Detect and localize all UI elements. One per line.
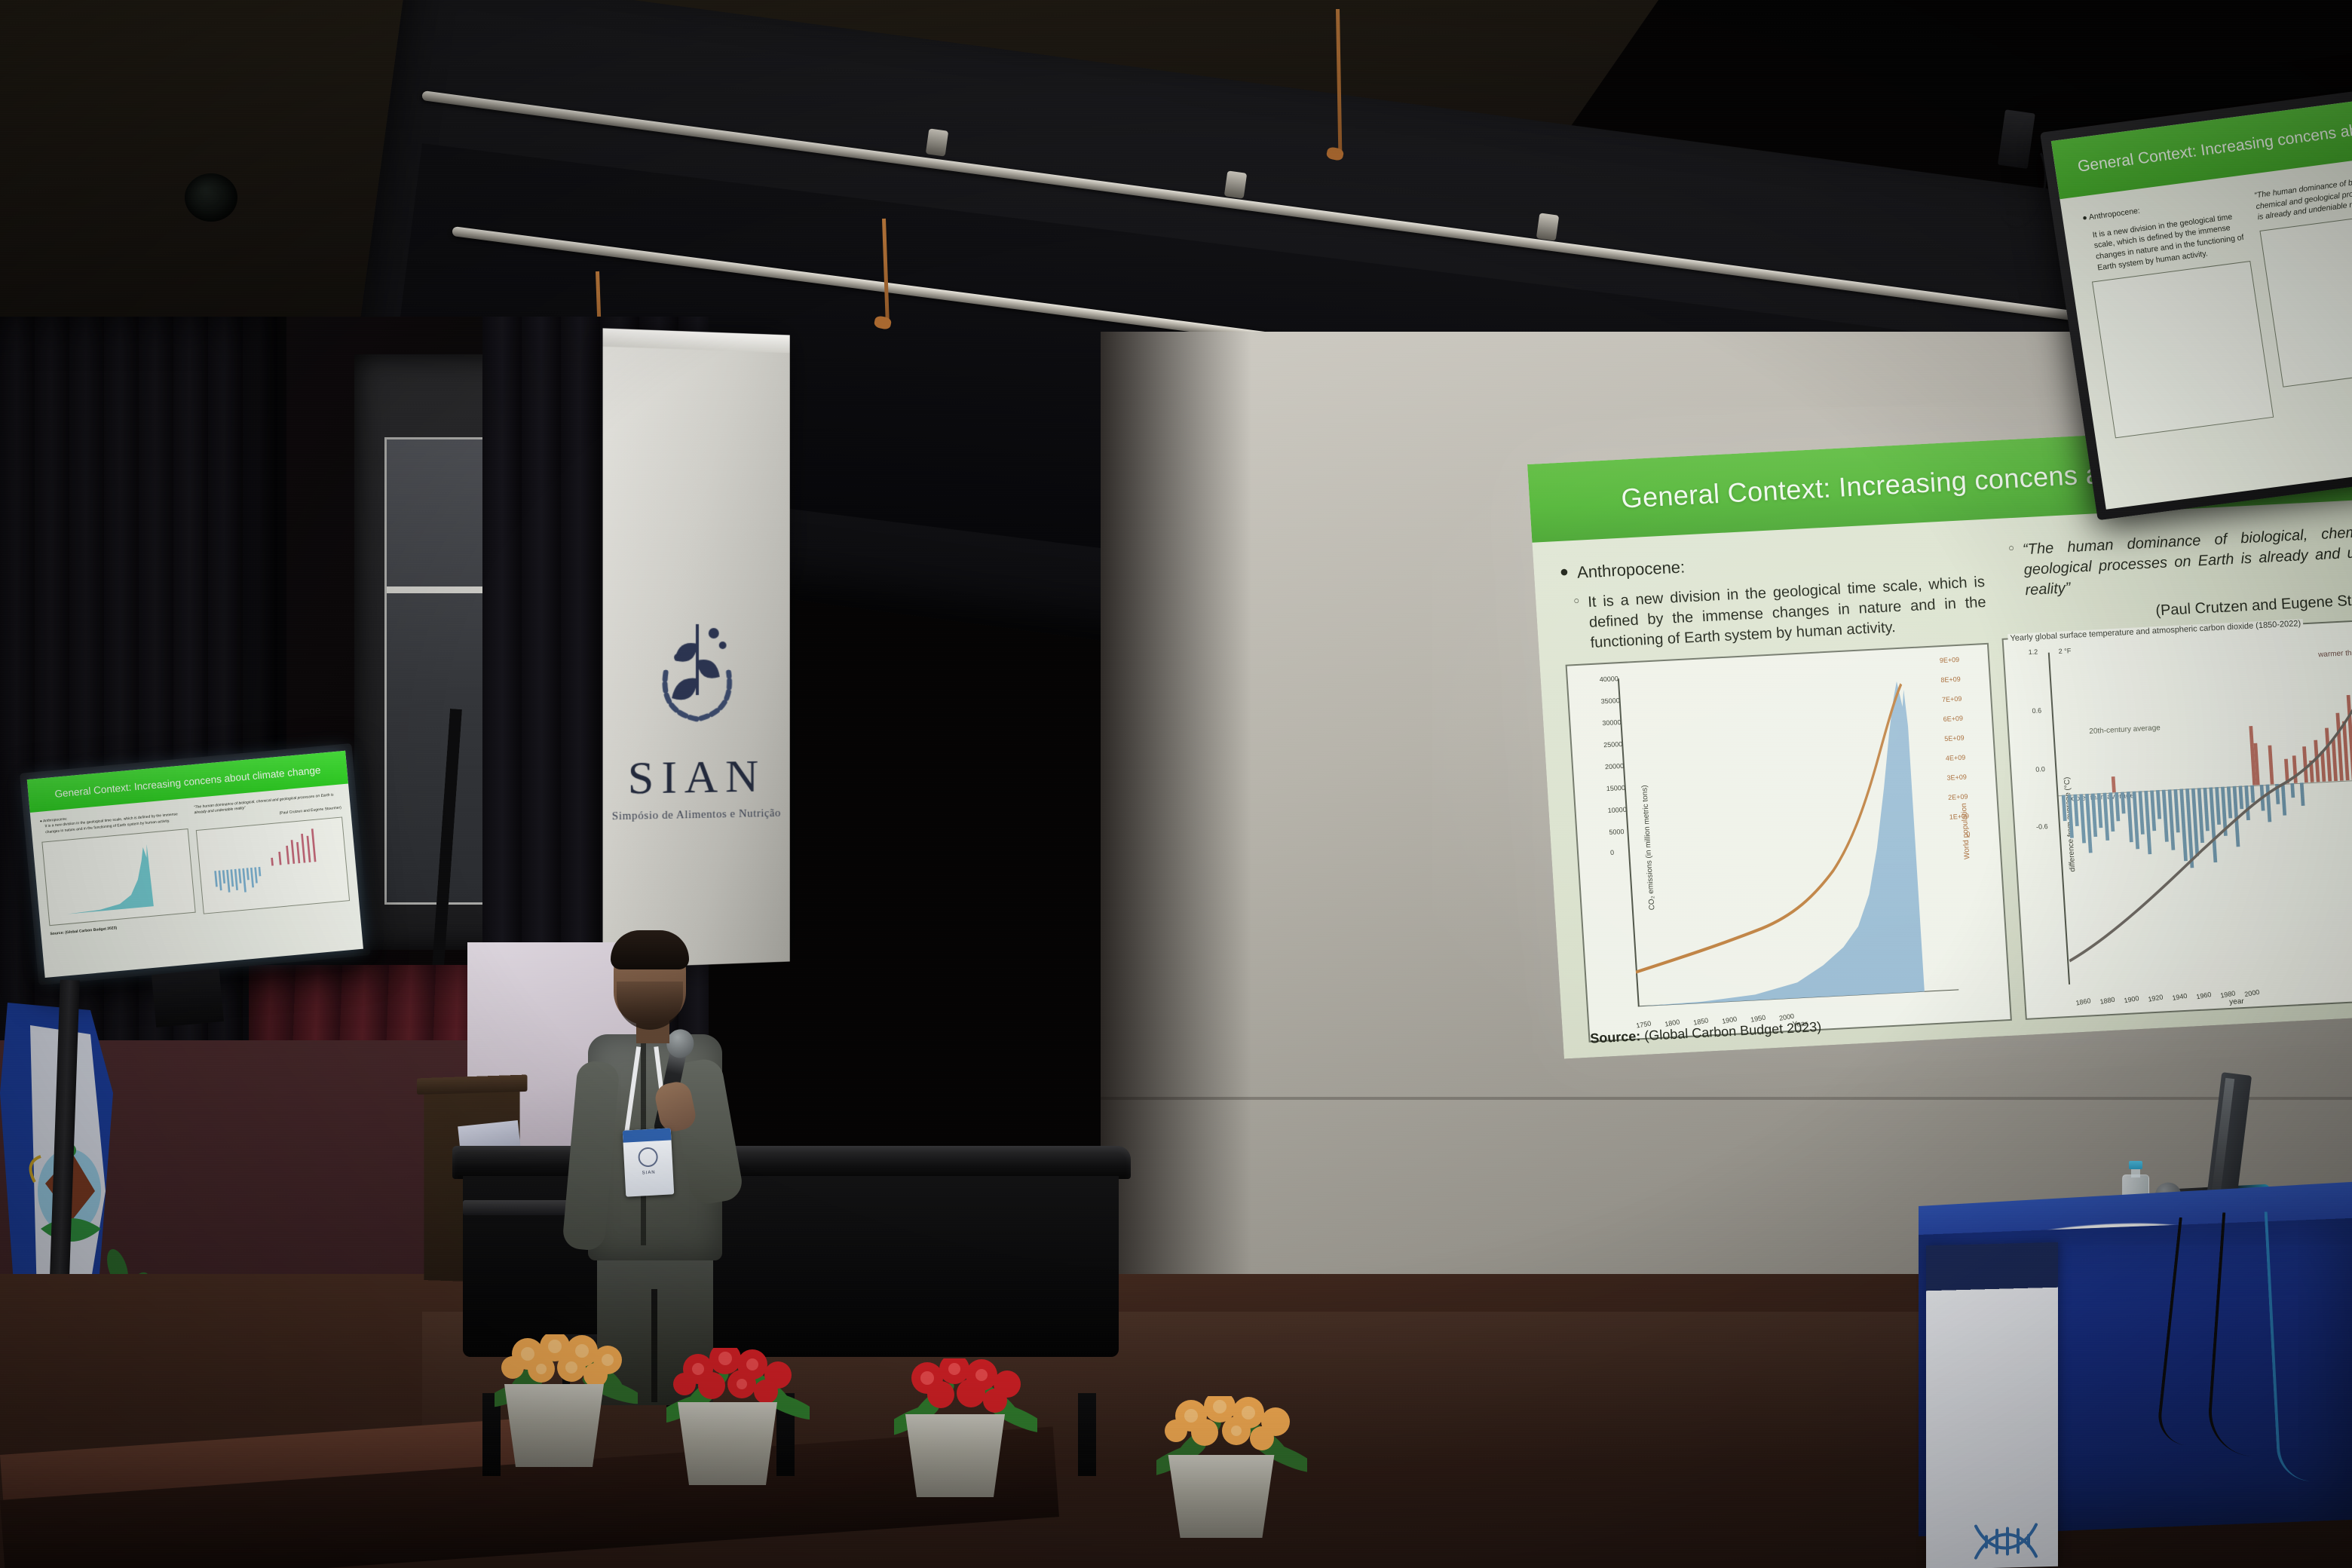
- chart1-ytick: 40000: [1600, 675, 1619, 684]
- stage-monitor-left-col: ● Anthropocene: It is a new division in …: [40, 806, 196, 928]
- chart1-y2tick: 8E+09: [1940, 675, 1961, 684]
- mini-chart-co2: [2092, 261, 2274, 438]
- slide-right-column: ○ “The human dominance of biological, ch…: [1996, 519, 2352, 1020]
- stage-scene: SIAN Simpósio de Alimentos e Nutrição UN…: [0, 0, 2352, 1568]
- sian-banner: SIAN Simpósio de Alimentos e Nutrição: [603, 328, 790, 968]
- speaker: SIAN: [567, 935, 755, 1395]
- bullet-dot-icon: ●: [1559, 563, 1570, 581]
- chart1-ytick: 20000: [1605, 762, 1625, 770]
- flower-pot: [899, 1414, 1012, 1497]
- truss-clamp: [1536, 213, 1559, 240]
- chart1-y2tick: 0: [1966, 831, 1971, 838]
- chart1-y2tick: 9E+09: [1940, 656, 1960, 664]
- chart2-ytick: 1.2: [2028, 648, 2038, 657]
- chart1-ytick: 10000: [1607, 806, 1627, 814]
- chart1-y2tick: 1E+09: [1949, 813, 1969, 821]
- chart1-ytick: 35000: [1600, 697, 1620, 705]
- slide-subbullet-anthropocene: ○ It is a new division in the geological…: [1561, 572, 1988, 654]
- projected-slide: General Context: Increasing concens abou…: [1527, 418, 2352, 1059]
- presenter-table: [1919, 1206, 2352, 1560]
- stage-monitor-chart-co2: [41, 828, 195, 926]
- piano-lid: [452, 1146, 1131, 1179]
- sian-subtitle: Simpósio de Alimentos e Nutrição: [612, 807, 781, 823]
- chart1-y2tick: 2E+09: [1948, 793, 1968, 801]
- chart1-ytick: 25000: [1603, 740, 1623, 749]
- chart1-plot-area: [1618, 663, 1958, 1007]
- stage-monitor-screen: General Context: Increasing concens abou…: [27, 751, 363, 978]
- slide-source-label: Source:: [1590, 1028, 1641, 1046]
- chart1-ytick: 0: [1610, 849, 1615, 856]
- chart1-y2tick: 5E+09: [1944, 734, 1965, 743]
- flower-pot: [498, 1384, 611, 1467]
- slide-left-column: ● Anthropocene: ○ It is a new division i…: [1559, 542, 2012, 1043]
- chart2-ytick: 0.6: [2032, 707, 2041, 715]
- wall-seam: [1101, 1097, 2352, 1100]
- flower-pot: [1161, 1455, 1282, 1538]
- mini-quote: “The human dominance of biological, chem…: [2253, 170, 2352, 223]
- truss-clamp: [1224, 170, 1247, 198]
- mini-chart-temp: [2259, 210, 2352, 387]
- bottle-cap: [2129, 1161, 2142, 1169]
- piano-leg: [1078, 1393, 1096, 1476]
- chart1-ytick: 15000: [1606, 784, 1626, 792]
- table-runner-banner: [1926, 1242, 2058, 1568]
- chart1-svg: [1618, 663, 1958, 1007]
- speaker-leg-split: [651, 1289, 657, 1402]
- stage-monitor[interactable]: General Context: Increasing concens abou…: [20, 743, 371, 985]
- chart2-svg: [2048, 635, 2352, 985]
- speaker-hair: [611, 930, 689, 969]
- chart-temperature-anomaly: Yearly global surface temperature and at…: [2002, 617, 2352, 1020]
- chart1-ytick: 5000: [1609, 828, 1625, 836]
- chart2-xtick: 1880: [2099, 996, 2116, 1006]
- slide-quote-text: “The human dominance of biological, chem…: [2022, 519, 2352, 600]
- stage-monitor-body: ● Anthropocene: It is a new division in …: [30, 784, 360, 946]
- sian-emblem-icon: [648, 614, 746, 735]
- chart2-xtick: 1860: [2075, 997, 2092, 1006]
- chart2-xtick: 2000: [2244, 988, 2261, 998]
- sian-acronym: SIAN: [628, 750, 766, 806]
- ceiling-spotlight-icon: [185, 173, 237, 222]
- chart1-y2tick: 3E+09: [1946, 773, 1967, 782]
- chart2-ytick: -0.6: [2036, 822, 2048, 831]
- chart2-xtick: 1920: [2148, 993, 2164, 1003]
- badge-text: SIAN: [625, 1169, 673, 1176]
- chart2-xtick: 1900: [2124, 994, 2140, 1004]
- stage-monitor-right-col: “The human dominance of biological, chem…: [194, 792, 350, 914]
- chart1-y2tick: 4E+09: [1946, 754, 1966, 762]
- slide-quote-block: ○ “The human dominance of biological, ch…: [1996, 519, 2352, 602]
- dna-helix-icon: [1970, 1518, 2042, 1564]
- mini-right-col: “The human dominance of biological, chem…: [2253, 170, 2352, 416]
- mini-slide-columns: ● Anthropocene: It is a new division in …: [2081, 170, 2352, 439]
- chart2-xtick: 1960: [2196, 991, 2213, 1000]
- speaker-beard: [617, 982, 683, 1030]
- badge-emblem-icon: [638, 1147, 658, 1167]
- chart1-ytick: 30000: [1602, 718, 1622, 727]
- truss-clamp: [926, 128, 948, 156]
- lectern-top: [417, 1074, 528, 1095]
- slide-content: ● Anthropocene: ○ It is a new division i…: [1532, 496, 2352, 1059]
- badge-header: [623, 1128, 672, 1142]
- chart2-xtick: 1940: [2172, 992, 2188, 1002]
- speaker-badge: SIAN: [623, 1128, 675, 1196]
- bullet-ring-icon: ○: [2007, 541, 2014, 556]
- chart1-y2tick: 6E+09: [1943, 715, 1963, 723]
- confidence-monitor-screen: General Context: Increasing concens abou…: [2051, 93, 2352, 510]
- slide-bullet-label: Anthropocene:: [1576, 557, 1686, 582]
- bullet-ring-icon: ○: [1573, 593, 1580, 609]
- stage-monitor-chart-temp: [196, 816, 350, 914]
- chart-co2-population: CO₂ emissions (in million metric tons) W…: [1566, 643, 2012, 1043]
- chart2-plot-area: [2048, 635, 2352, 985]
- stage-monitor-columns: ● Anthropocene: It is a new division in …: [40, 792, 350, 928]
- chart2-ytick: 0.0: [2035, 766, 2045, 774]
- piano-body: [463, 1176, 1119, 1357]
- chart2-inner: difference from average (°C) year 1.2 0.…: [2014, 626, 2352, 1006]
- mini-slide-body: ● Anthropocene: It is a new division in …: [2060, 151, 2352, 458]
- chart2-xlabel: year: [2229, 997, 2244, 1006]
- chart1-inner: CO₂ emissions (in million metric tons) W…: [1578, 653, 1999, 1028]
- chart1-y2tick: 7E+09: [1942, 695, 1962, 703]
- flower-pot: [671, 1402, 784, 1485]
- slide-subbullet-text: It is a new division in the geological t…: [1588, 572, 1988, 653]
- mini-left-col: ● Anthropocene: It is a new division in …: [2081, 192, 2274, 439]
- monitor-stand: [152, 969, 224, 1027]
